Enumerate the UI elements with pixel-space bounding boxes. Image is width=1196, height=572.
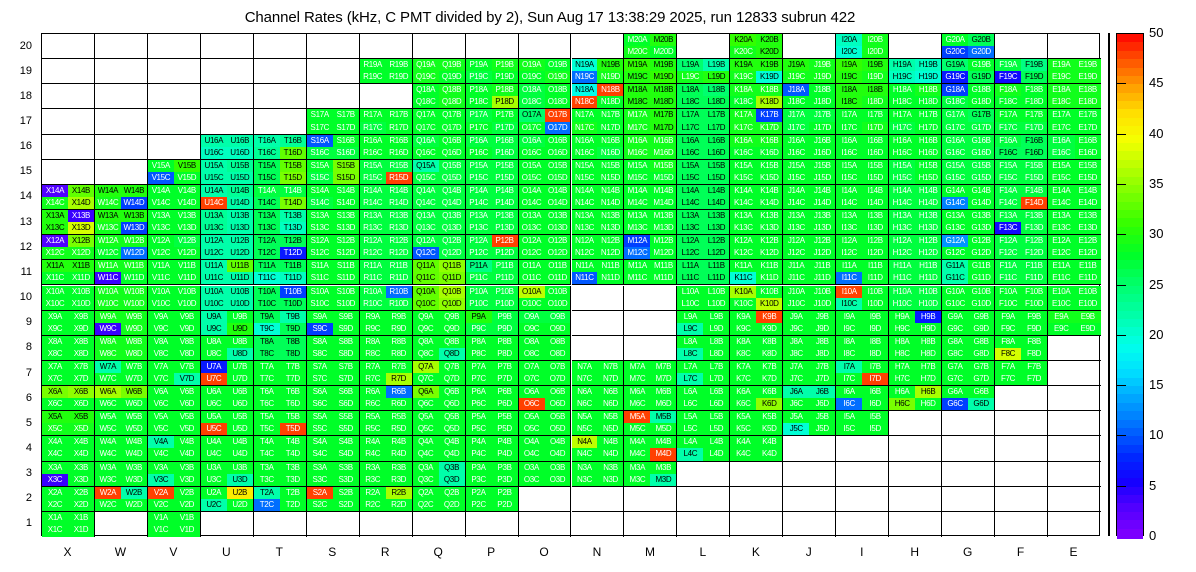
channel-M11D[interactable]: M11D [650, 272, 676, 284]
module-cell-K3[interactable] [730, 462, 783, 487]
channel-M5D[interactable]: M5D [650, 423, 676, 435]
channel-T7A[interactable]: T7A [254, 361, 280, 373]
module-cell-L10[interactable]: L10AL10BL10CL10D [677, 286, 730, 311]
module-cell-T2[interactable]: T2AT2BT2CT2D [254, 487, 307, 512]
channel-G13D[interactable]: G13D [968, 222, 994, 234]
channel-O17A[interactable]: O17A [519, 109, 545, 121]
channel-J16D[interactable]: J16D [809, 147, 835, 159]
channel-V4D[interactable]: V4D [174, 448, 200, 460]
channel-I11D[interactable]: I11D [862, 272, 888, 284]
channel-T7C[interactable]: T7C [254, 373, 280, 385]
channel-L13B[interactable]: L13B [703, 210, 729, 222]
channel-U4A[interactable]: U4A [201, 436, 227, 448]
channel-K19D[interactable]: K19D [756, 71, 782, 83]
channel-N12A[interactable]: N12A [572, 235, 598, 247]
channel-Q4A[interactable]: Q4A [413, 436, 439, 448]
channel-S4B[interactable]: S4B [333, 436, 359, 448]
channel-Q15D[interactable]: Q15D [439, 172, 465, 184]
channel-S5A[interactable]: S5A [307, 411, 333, 423]
channel-L11A[interactable]: L11A [677, 260, 703, 272]
channel-O16B[interactable]: O16B [545, 135, 571, 147]
channel-N16A[interactable]: N16A [572, 135, 598, 147]
channel-E16A[interactable]: E16A [1048, 135, 1074, 147]
channel-H19A[interactable]: H19A [889, 59, 915, 71]
channel-M20C[interactable]: M20C [624, 46, 650, 58]
module-cell-L2[interactable] [677, 487, 730, 512]
channel-G16A[interactable]: G16A [942, 135, 968, 147]
channel-R9D[interactable]: R9D [386, 323, 412, 335]
channel-M5A[interactable]: M5A [624, 411, 650, 423]
module-cell-W12[interactable]: W12AW12BW12CW12D [95, 235, 148, 260]
channel-Q2A[interactable]: Q2A [413, 487, 439, 499]
channel-I5D[interactable]: I5D [862, 423, 888, 435]
channel-E17B[interactable]: E17B [1075, 109, 1101, 121]
channel-X8A[interactable]: X8A [42, 336, 68, 348]
channel-Q16B[interactable]: Q16B [439, 135, 465, 147]
channel-H14A[interactable]: H14A [889, 185, 915, 197]
channel-I6D[interactable]: I6D [862, 398, 888, 410]
channel-K14A[interactable]: K14A [730, 185, 756, 197]
channel-V5D[interactable]: V5D [174, 423, 200, 435]
channel-P18B[interactable]: P18B [492, 84, 518, 96]
module-cell-R4[interactable]: R4AR4BR4CR4D [360, 436, 413, 461]
channel-F14B[interactable]: F14B [1021, 185, 1047, 197]
module-cell-X1[interactable]: X1AX1BX1CX1D [42, 512, 95, 537]
channel-R14C[interactable]: R14C [360, 197, 386, 209]
channel-V7B[interactable]: V7B [174, 361, 200, 373]
channel-E19B[interactable]: E19B [1075, 59, 1101, 71]
channel-K19B[interactable]: K19B [756, 59, 782, 71]
channel-R4A[interactable]: R4A [360, 436, 386, 448]
channel-Q15C[interactable]: Q15C [413, 172, 439, 184]
channel-F12C[interactable]: F12C [995, 247, 1021, 259]
channel-R14D[interactable]: R14D [386, 197, 412, 209]
channel-L16D[interactable]: L16D [703, 147, 729, 159]
channel-E17A[interactable]: E17A [1048, 109, 1074, 121]
module-cell-G5[interactable] [942, 411, 995, 436]
channel-P7B[interactable]: P7B [492, 361, 518, 373]
channel-N18D[interactable]: N18D [597, 96, 623, 108]
channel-S16C[interactable]: S16C [307, 147, 333, 159]
channel-N7D[interactable]: N7D [597, 373, 623, 385]
channel-T8A[interactable]: T8A [254, 336, 280, 348]
channel-W12D[interactable]: W12D [121, 247, 147, 259]
channel-S4C[interactable]: S4C [307, 448, 333, 460]
channel-G18D[interactable]: G18D [968, 96, 994, 108]
channel-Q2C[interactable]: Q2C [413, 499, 439, 511]
channel-F8D[interactable]: F8D [1021, 348, 1047, 360]
channel-R13A[interactable]: R13A [360, 210, 386, 222]
module-cell-E18[interactable]: E18AE18BE18CE18D [1048, 84, 1101, 109]
module-cell-M8[interactable] [624, 336, 677, 361]
channel-P10C[interactable]: P10C [466, 298, 492, 310]
channel-T15A[interactable]: T15A [254, 160, 280, 172]
channel-H19D[interactable]: H19D [915, 71, 941, 83]
channel-O17B[interactable]: O17B [545, 109, 571, 121]
module-cell-S11[interactable]: S11AS11BS11CS11D [307, 260, 360, 285]
module-cell-T3[interactable]: T3AT3BT3CT3D [254, 462, 307, 487]
module-cell-U7[interactable]: U7AU7BU7CU7D [201, 361, 254, 386]
channel-U14A[interactable]: U14A [201, 185, 227, 197]
module-cell-K5[interactable]: K5AK5BK5CK5D [730, 411, 783, 436]
module-cell-S2[interactable]: S2AS2BS2CS2D [307, 487, 360, 512]
channel-H16C[interactable]: H16C [889, 147, 915, 159]
module-cell-N19[interactable]: N19AN19BN19CN19D [572, 59, 625, 84]
channel-P10B[interactable]: P10B [492, 286, 518, 298]
module-cell-J15[interactable]: J15AJ15BJ15CJ15D [783, 160, 836, 185]
channel-E18C[interactable]: E18C [1048, 96, 1074, 108]
channel-Q7A[interactable]: Q7A [413, 361, 439, 373]
channel-T13D[interactable]: T13D [280, 222, 306, 234]
channel-W11B[interactable]: W11B [121, 260, 147, 272]
channel-U5C[interactable]: U5C [201, 423, 227, 435]
module-cell-I6[interactable]: I6AI6BI6CI6D [836, 386, 889, 411]
channel-W6A[interactable]: W6A [95, 386, 121, 398]
channel-R5C[interactable]: R5C [360, 423, 386, 435]
module-cell-L18[interactable]: L18AL18BL18CL18D [677, 84, 730, 109]
channel-X11D[interactable]: X11D [68, 272, 94, 284]
channel-P18D[interactable]: P18D [492, 96, 518, 108]
channel-M14A[interactable]: M14A [624, 185, 650, 197]
channel-U2C[interactable]: U2C [201, 499, 227, 511]
channel-X10A[interactable]: X10A [42, 286, 68, 298]
channel-K6B[interactable]: K6B [756, 386, 782, 398]
channel-U7B[interactable]: U7B [227, 361, 253, 373]
channel-U15C[interactable]: U15C [201, 172, 227, 184]
channel-G7B[interactable]: G7B [968, 361, 994, 373]
channel-R15C[interactable]: R15C [360, 172, 386, 184]
channel-Q14B[interactable]: Q14B [439, 185, 465, 197]
channel-G14B[interactable]: G14B [968, 185, 994, 197]
channel-T2D[interactable]: T2D [280, 499, 306, 511]
channel-O6A[interactable]: O6A [519, 386, 545, 398]
channel-Q17C[interactable]: Q17C [413, 122, 439, 134]
channel-W8D[interactable]: W8D [121, 348, 147, 360]
channel-R3C[interactable]: R3C [360, 474, 386, 486]
module-cell-X11[interactable]: X11AX11BX11CX11D [42, 260, 95, 285]
module-cell-M9[interactable] [624, 311, 677, 336]
channel-H17C[interactable]: H17C [889, 122, 915, 134]
module-cell-T7[interactable]: T7AT7BT7CT7D [254, 361, 307, 386]
channel-R5D[interactable]: R5D [386, 423, 412, 435]
module-cell-F9[interactable]: F9AF9BF9CF9D [995, 311, 1048, 336]
channel-P7C[interactable]: P7C [466, 373, 492, 385]
channel-J12A[interactable]: J12A [783, 235, 809, 247]
module-cell-M15[interactable]: M15AM15BM15CM15D [624, 160, 677, 185]
channel-U6B[interactable]: U6B [227, 386, 253, 398]
channel-Q2B[interactable]: Q2B [439, 487, 465, 499]
module-cell-L15[interactable]: L15AL15BL15CL15D [677, 160, 730, 185]
channel-O3A[interactable]: O3A [519, 462, 545, 474]
channel-W14A[interactable]: W14A [95, 185, 121, 197]
channel-J18B[interactable]: J18B [809, 84, 835, 96]
channel-M13B[interactable]: M13B [650, 210, 676, 222]
channel-Q18A[interactable]: Q18A [413, 84, 439, 96]
module-cell-P3[interactable]: P3AP3BP3CP3D [466, 462, 519, 487]
channel-M19B[interactable]: M19B [650, 59, 676, 71]
channel-R14B[interactable]: R14B [386, 185, 412, 197]
channel-H14D[interactable]: H14D [915, 197, 941, 209]
channel-V9B[interactable]: V9B [174, 311, 200, 323]
channel-F8B[interactable]: F8B [1021, 336, 1047, 348]
module-cell-U5[interactable]: U5AU5BU5CU5D [201, 411, 254, 436]
channel-Q4C[interactable]: Q4C [413, 448, 439, 460]
channel-F11D[interactable]: F11D [1021, 272, 1047, 284]
channel-U10D[interactable]: U10D [227, 298, 253, 310]
channel-W5A[interactable]: W5A [95, 411, 121, 423]
module-cell-W13[interactable]: W13AW13BW13CW13D [95, 210, 148, 235]
channel-S7A[interactable]: S7A [307, 361, 333, 373]
module-cell-V3[interactable]: V3AV3BV3CV3D [148, 462, 201, 487]
channel-H15B[interactable]: H15B [915, 160, 941, 172]
channel-P11C[interactable]: P11C [466, 272, 492, 284]
channel-T8C[interactable]: T8C [254, 348, 280, 360]
channel-G12C[interactable]: G12C [942, 247, 968, 259]
channel-S14B[interactable]: S14B [333, 185, 359, 197]
channel-S4D[interactable]: S4D [333, 448, 359, 460]
channel-O15D[interactable]: O15D [545, 172, 571, 184]
module-cell-H13[interactable]: H13AH13BH13CH13D [889, 210, 942, 235]
channel-F8A[interactable]: F8A [995, 336, 1021, 348]
module-cell-J20[interactable] [783, 34, 836, 59]
channel-Q15A[interactable]: Q15A [413, 160, 439, 172]
channel-E18A[interactable]: E18A [1048, 84, 1074, 96]
channel-S16B[interactable]: S16B [333, 135, 359, 147]
module-cell-M18[interactable]: M18AM18BM18CM18D [624, 84, 677, 109]
channel-O10A[interactable]: O10A [519, 286, 545, 298]
channel-I13C[interactable]: I13C [836, 222, 862, 234]
channel-M6D[interactable]: M6D [650, 398, 676, 410]
channel-K13C[interactable]: K13C [730, 222, 756, 234]
channel-T3C[interactable]: T3C [254, 474, 280, 486]
channel-I6A[interactable]: I6A [836, 386, 862, 398]
channel-X12A[interactable]: X12A [42, 235, 68, 247]
channel-U11B[interactable]: U11B [227, 260, 253, 272]
channel-W2D[interactable]: W2D [121, 499, 147, 511]
module-cell-J10[interactable]: J10AJ10BJ10CJ10D [783, 286, 836, 311]
channel-I9D[interactable]: I9D [862, 323, 888, 335]
channel-X3D[interactable]: X3D [68, 474, 94, 486]
channel-N5B[interactable]: N5B [597, 411, 623, 423]
module-cell-S8[interactable]: S8AS8BS8CS8D [307, 336, 360, 361]
channel-X10C[interactable]: X10C [42, 298, 68, 310]
module-cell-E6[interactable] [1048, 386, 1101, 411]
channel-X14A[interactable]: X14A [42, 185, 68, 197]
module-cell-Q8[interactable]: Q8AQ8BQ8CQ8D [413, 336, 466, 361]
channel-T14B[interactable]: T14B [280, 185, 306, 197]
channel-K11C[interactable]: K11C [730, 272, 756, 284]
channel-H13C[interactable]: H13C [889, 222, 915, 234]
channel-J13A[interactable]: J13A [783, 210, 809, 222]
module-cell-S16[interactable]: S16AS16BS16CS16D [307, 135, 360, 160]
channel-H19B[interactable]: H19B [915, 59, 941, 71]
channel-G15D[interactable]: G15D [968, 172, 994, 184]
channel-R10B[interactable]: R10B [386, 286, 412, 298]
channel-F10B[interactable]: F10B [1021, 286, 1047, 298]
channel-V2D[interactable]: V2D [174, 499, 200, 511]
channel-P3D[interactable]: P3D [492, 474, 518, 486]
channel-I16D[interactable]: I16D [862, 147, 888, 159]
channel-G11D[interactable]: G11D [968, 272, 994, 284]
module-cell-M6[interactable]: M6AM6BM6CM6D [624, 386, 677, 411]
channel-W11A[interactable]: W11A [95, 260, 121, 272]
channel-N18A[interactable]: N18A [572, 84, 598, 96]
channel-O15A[interactable]: O15A [519, 160, 545, 172]
channel-K9C[interactable]: K9C [730, 323, 756, 335]
channel-O16D[interactable]: O16D [545, 147, 571, 159]
channel-U3D[interactable]: U3D [227, 474, 253, 486]
channel-J12D[interactable]: J12D [809, 247, 835, 259]
channel-L11D[interactable]: L11D [703, 272, 729, 284]
module-cell-H5[interactable] [889, 411, 942, 436]
channel-F11B[interactable]: F11B [1021, 260, 1047, 272]
channel-P13C[interactable]: P13C [466, 222, 492, 234]
channel-P14B[interactable]: P14B [492, 185, 518, 197]
module-cell-O4[interactable]: O4AO4BO4CO4D [519, 436, 572, 461]
module-cell-J7[interactable]: J7AJ7BJ7CJ7D [783, 361, 836, 386]
module-cell-T9[interactable]: T9AT9BT9CT9D [254, 311, 307, 336]
module-cell-P12[interactable]: P12AP12BP12CP12D [466, 235, 519, 260]
module-cell-I2[interactable] [836, 487, 889, 512]
channel-P3A[interactable]: P3A [466, 462, 492, 474]
channel-R17C[interactable]: R17C [360, 122, 386, 134]
channel-H13D[interactable]: H13D [915, 222, 941, 234]
channel-I11B[interactable]: I11B [862, 260, 888, 272]
channel-J15A[interactable]: J15A [783, 160, 809, 172]
module-cell-V4[interactable]: V4AV4BV4CV4D [148, 436, 201, 461]
channel-S11B[interactable]: S11B [333, 260, 359, 272]
module-cell-H6[interactable]: H6AH6BH6CH6D [889, 386, 942, 411]
channel-G10C[interactable]: G10C [942, 298, 968, 310]
channel-H8A[interactable]: H8A [889, 336, 915, 348]
module-cell-S3[interactable]: S3AS3BS3CS3D [307, 462, 360, 487]
channel-Q8C[interactable]: Q8C [413, 348, 439, 360]
channel-J5D[interactable]: J5D [809, 423, 835, 435]
module-cell-X5[interactable]: X5AX5BX5CX5D [42, 411, 95, 436]
channel-P5A[interactable]: P5A [466, 411, 492, 423]
channel-T2A[interactable]: T2A [254, 487, 280, 499]
channel-W7D[interactable]: W7D [121, 373, 147, 385]
channel-H17D[interactable]: H17D [915, 122, 941, 134]
channel-G7A[interactable]: G7A [942, 361, 968, 373]
module-cell-H19[interactable]: H19AH19BH19CH19D [889, 59, 942, 84]
channel-L8D[interactable]: L8D [703, 348, 729, 360]
module-cell-G9[interactable]: G9AG9BG9CG9D [942, 311, 995, 336]
channel-Q6D[interactable]: Q6D [439, 398, 465, 410]
channel-J10C[interactable]: J10C [783, 298, 809, 310]
module-cell-W20[interactable] [95, 34, 148, 59]
channel-U12C[interactable]: U12C [201, 247, 227, 259]
module-cell-I16[interactable]: I16AI16BI16CI16D [836, 135, 889, 160]
channel-V10C[interactable]: V10C [148, 298, 174, 310]
channel-J8D[interactable]: J8D [809, 348, 835, 360]
channel-M17C[interactable]: M17C [624, 122, 650, 134]
channel-P11D[interactable]: P11D [492, 272, 518, 284]
channel-P17A[interactable]: P17A [466, 109, 492, 121]
channel-F7B[interactable]: F7B [1021, 361, 1047, 373]
channel-I19D[interactable]: I19D [862, 71, 888, 83]
channel-I10B[interactable]: I10B [862, 286, 888, 298]
channel-O10D[interactable]: O10D [545, 298, 571, 310]
channel-X11B[interactable]: X11B [68, 260, 94, 272]
module-cell-G8[interactable]: G8AG8BG8CG8D [942, 336, 995, 361]
channel-S12B[interactable]: S12B [333, 235, 359, 247]
channel-W12A[interactable]: W12A [95, 235, 121, 247]
module-cell-K19[interactable]: K19AK19BK19CK19D [730, 59, 783, 84]
module-cell-N4[interactable]: N4AN4BN4CN4D [572, 436, 625, 461]
module-cell-L9[interactable]: L9AL9BL9CL9D [677, 311, 730, 336]
channel-Q17D[interactable]: Q17D [439, 122, 465, 134]
channel-F16A[interactable]: F16A [995, 135, 1021, 147]
module-cell-P8[interactable]: P8AP8BP8CP8D [466, 336, 519, 361]
module-cell-Q6[interactable]: Q6AQ6BQ6CQ6D [413, 386, 466, 411]
module-cell-X17[interactable] [42, 109, 95, 134]
channel-O14C[interactable]: O14C [519, 197, 545, 209]
channel-I18B[interactable]: I18B [862, 84, 888, 96]
channel-K5A[interactable]: K5A [730, 411, 756, 423]
channel-R16C[interactable]: R16C [360, 147, 386, 159]
module-cell-F4[interactable] [995, 436, 1048, 461]
channel-N4D[interactable]: N4D [597, 448, 623, 460]
module-cell-G11[interactable]: G11AG11BG11CG11D [942, 260, 995, 285]
channel-R16D[interactable]: R16D [386, 147, 412, 159]
channel-F8C[interactable]: F8C [995, 348, 1021, 360]
channel-S6D[interactable]: S6D [333, 398, 359, 410]
channel-F19C[interactable]: F19C [995, 71, 1021, 83]
channel-V3A[interactable]: V3A [148, 462, 174, 474]
channel-P10D[interactable]: P10D [492, 298, 518, 310]
channel-N4C[interactable]: N4C [572, 448, 598, 460]
module-cell-F8[interactable]: F8AF8BF8CF8D [995, 336, 1048, 361]
module-cell-S9[interactable]: S9AS9BS9CS9D [307, 311, 360, 336]
channel-P19C[interactable]: P19C [466, 71, 492, 83]
channel-G9D[interactable]: G9D [968, 323, 994, 335]
channel-I14D[interactable]: I14D [862, 197, 888, 209]
channel-V4B[interactable]: V4B [174, 436, 200, 448]
channel-R2A[interactable]: R2A [360, 487, 386, 499]
channel-J6D[interactable]: J6D [809, 398, 835, 410]
channel-N15C[interactable]: N15C [572, 172, 598, 184]
channel-G9C[interactable]: G9C [942, 323, 968, 335]
channel-S2C[interactable]: S2C [307, 499, 333, 511]
channel-V11C[interactable]: V11C [148, 272, 174, 284]
channel-S16A[interactable]: S16A [307, 135, 333, 147]
channel-L8B[interactable]: L8B [703, 336, 729, 348]
channel-V7C[interactable]: V7C [148, 373, 174, 385]
channel-V7A[interactable]: V7A [148, 361, 174, 373]
module-cell-P4[interactable]: P4AP4BP4CP4D [466, 436, 519, 461]
channel-T8B[interactable]: T8B [280, 336, 306, 348]
module-cell-J11[interactable]: J11AJ11BJ11CJ11D [783, 260, 836, 285]
channel-P17B[interactable]: P17B [492, 109, 518, 121]
channel-U9B[interactable]: U9B [227, 311, 253, 323]
channel-K17C[interactable]: K17C [730, 122, 756, 134]
module-cell-K17[interactable]: K17AK17BK17CK17D [730, 109, 783, 134]
channel-N3C[interactable]: N3C [572, 474, 598, 486]
module-cell-F18[interactable]: F18AF18BF18CF18D [995, 84, 1048, 109]
module-cell-N12[interactable]: N12AN12BN12CN12D [572, 235, 625, 260]
channel-P6B[interactable]: P6B [492, 386, 518, 398]
module-cell-U13[interactable]: U13AU13BU13CU13D [201, 210, 254, 235]
channel-I15C[interactable]: I15C [836, 172, 862, 184]
channel-H9C[interactable]: H9C [889, 323, 915, 335]
channel-P2B[interactable]: P2B [492, 487, 518, 499]
module-cell-N6[interactable]: N6AN6BN6CN6D [572, 386, 625, 411]
channel-Q13A[interactable]: Q13A [413, 210, 439, 222]
channel-U5D[interactable]: U5D [227, 423, 253, 435]
channel-J7D[interactable]: J7D [809, 373, 835, 385]
channel-F17B[interactable]: F17B [1021, 109, 1047, 121]
